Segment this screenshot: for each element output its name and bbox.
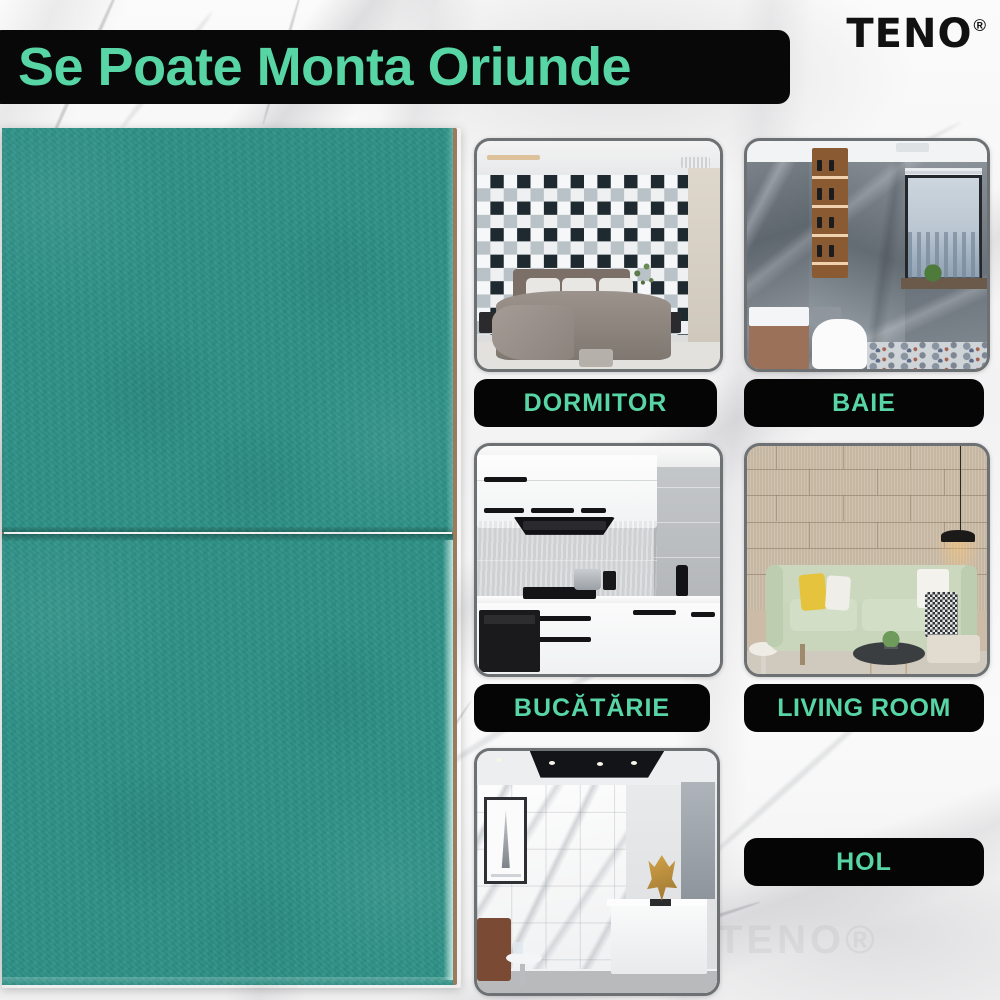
panel-highlight-upper bbox=[446, 128, 453, 532]
label-pill-living-room: LIVING ROOM bbox=[744, 684, 984, 732]
label-pill-dormitor: DORMITOR bbox=[474, 379, 717, 427]
room-card-living-room[interactable] bbox=[744, 443, 990, 677]
label-pill-hol: HOL bbox=[744, 838, 984, 886]
title-banner: Se Poate Monta Oriunde bbox=[0, 30, 790, 104]
room-card-dormitor[interactable] bbox=[474, 138, 723, 372]
room-card-hol[interactable] bbox=[474, 748, 720, 996]
brand-watermark: TENO® bbox=[718, 918, 879, 963]
poster-canvas: TENO® Se Poate Monta Oriunde TENO ® bbox=[0, 0, 1000, 1000]
scene-bedroom bbox=[477, 141, 720, 369]
room-card-bucatarie[interactable] bbox=[474, 443, 723, 677]
panel-tile-upper bbox=[2, 128, 453, 532]
label-pill-baie: BAIE bbox=[744, 379, 984, 427]
page-title: Se Poate Monta Oriunde bbox=[18, 40, 631, 94]
room-label-dormitor: DORMITOR bbox=[524, 391, 668, 416]
room-card-baie[interactable] bbox=[744, 138, 990, 372]
scene-kitchen bbox=[477, 446, 720, 674]
panel-tile-lower bbox=[2, 534, 453, 985]
scene-bathroom bbox=[747, 141, 987, 369]
scene-living-room bbox=[747, 446, 987, 674]
product-panel bbox=[2, 128, 457, 985]
brand-name: TENO bbox=[846, 14, 972, 54]
room-label-living-room: LIVING ROOM bbox=[777, 696, 951, 721]
scene-hallway bbox=[477, 751, 717, 993]
brand-logo: TENO ® bbox=[846, 14, 986, 54]
room-label-bucatarie: BUCĂTĂRIE bbox=[514, 696, 670, 721]
registered-trademark-icon: ® bbox=[973, 16, 986, 36]
room-label-hol: HOL bbox=[836, 850, 892, 875]
panel-highlight-lower bbox=[443, 540, 453, 980]
label-pill-bucatarie: BUCĂTĂRIE bbox=[474, 684, 710, 732]
room-label-baie: BAIE bbox=[832, 391, 896, 416]
